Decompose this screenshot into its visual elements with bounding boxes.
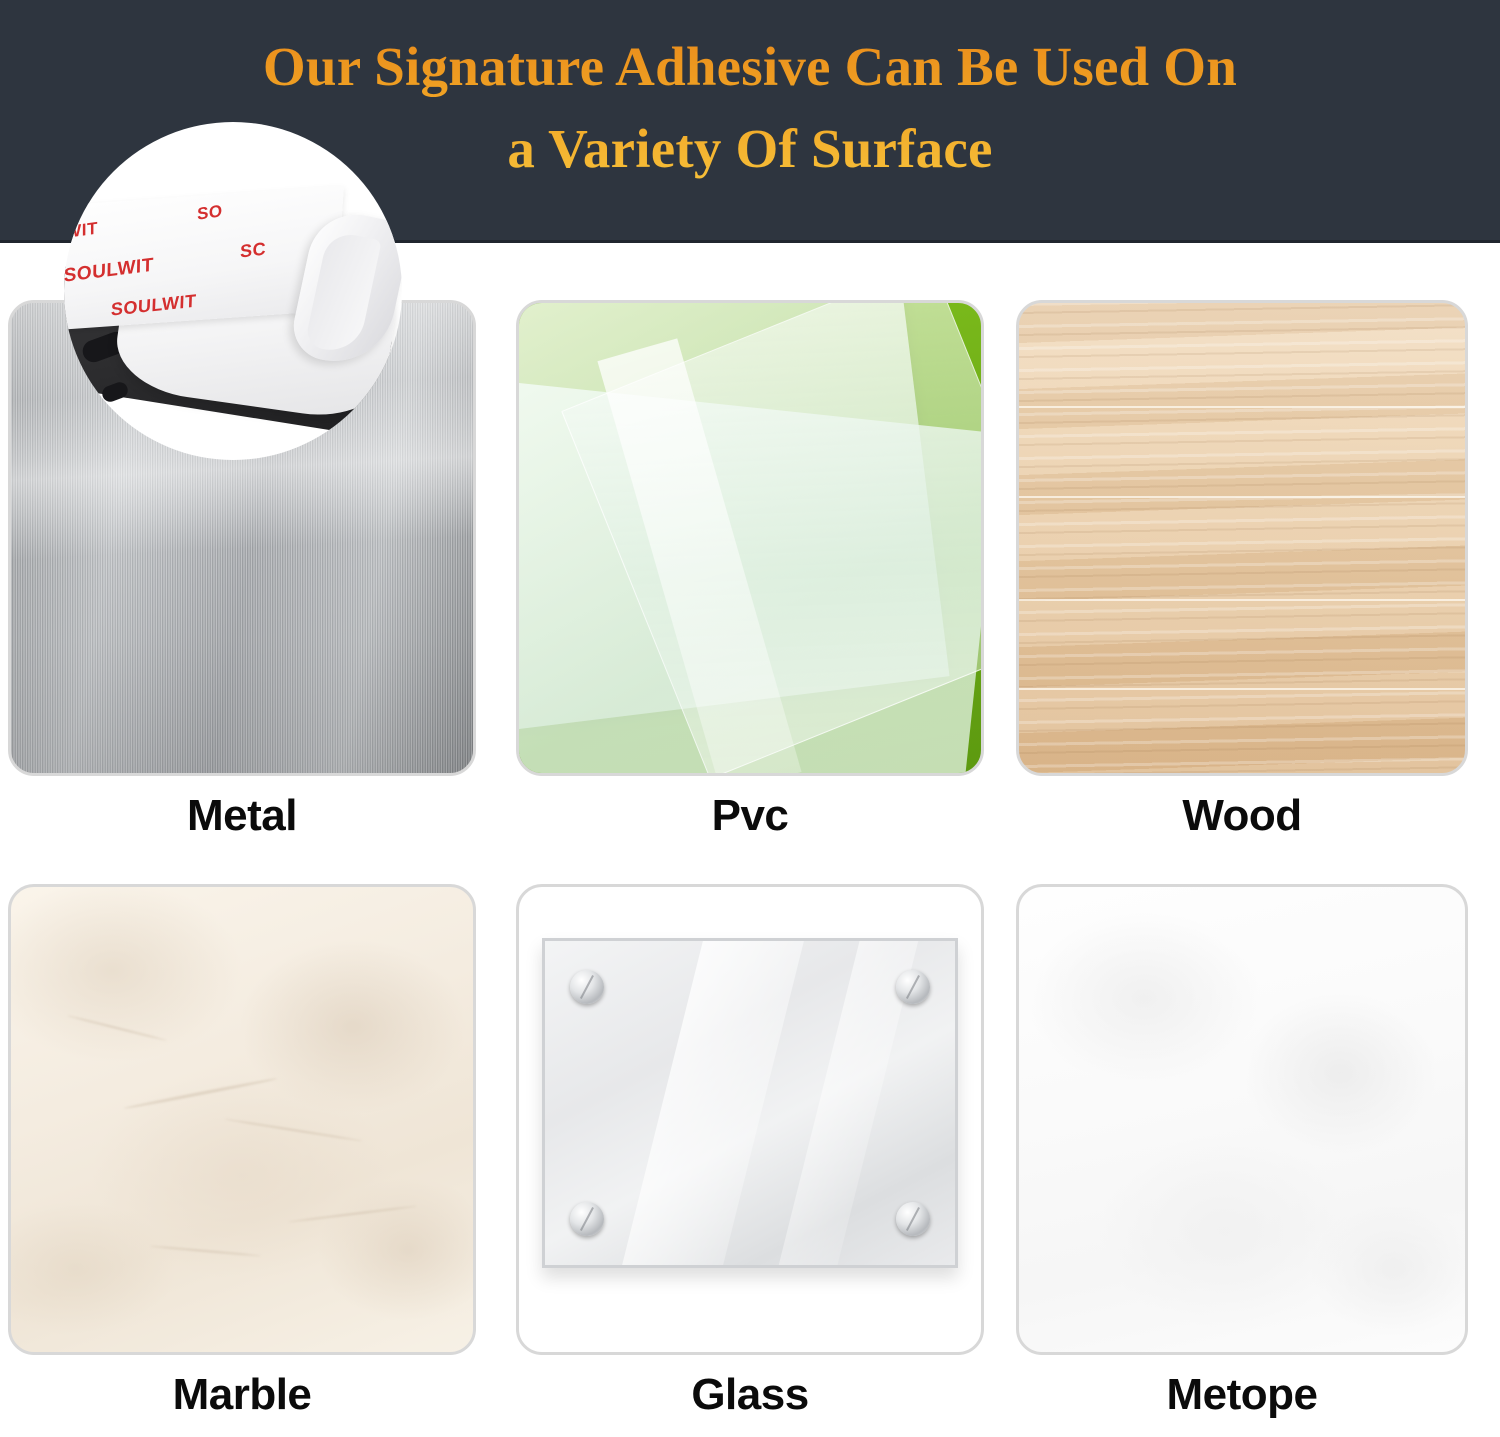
surface-label-metope: Metope bbox=[1016, 1370, 1468, 1420]
surface-swatch-glass bbox=[516, 884, 984, 1355]
surface-label-metal: Metal bbox=[8, 791, 476, 841]
standoff-screw-icon bbox=[570, 970, 604, 1004]
standoff-screw-icon bbox=[570, 1202, 604, 1236]
wood-plank-seam bbox=[1019, 496, 1465, 498]
surface-cell-marble[interactable] bbox=[8, 884, 476, 1355]
marble-vein bbox=[68, 1014, 167, 1041]
surface-swatch-marble bbox=[8, 884, 476, 1355]
wood-plank-seam bbox=[1019, 688, 1465, 690]
surface-cell-metope[interactable] bbox=[1016, 884, 1468, 1355]
wood-plank-seam bbox=[1019, 406, 1465, 408]
surface-cell-wood[interactable] bbox=[1016, 300, 1468, 776]
page-title-line-1: Our Signature Adhesive Can Be Used On bbox=[0, 26, 1500, 108]
liner-brand-text: SC bbox=[240, 238, 266, 262]
surface-swatch-pvc bbox=[516, 300, 984, 776]
marble-vein bbox=[224, 1118, 361, 1142]
wood-plank-seam bbox=[1019, 599, 1465, 601]
marble-vein bbox=[150, 1245, 261, 1257]
surface-cell-pvc[interactable] bbox=[516, 300, 984, 776]
liner-brand-text: OULWIT bbox=[64, 218, 98, 248]
glass-panel bbox=[542, 938, 958, 1268]
liner-brand-text: SO bbox=[197, 201, 223, 225]
surface-label-wood: Wood bbox=[1016, 791, 1468, 841]
liner-brand-text: SOULWIT bbox=[64, 255, 154, 288]
glass-glare bbox=[602, 938, 815, 1268]
standoff-screw-icon bbox=[896, 1202, 930, 1236]
adhesive-pad-closeup-circle: OULWIT SO SOULWIT SC SOULWIT IT bbox=[64, 122, 402, 460]
surface-label-glass: Glass bbox=[516, 1370, 984, 1420]
marble-vein bbox=[289, 1205, 418, 1223]
standoff-screw-icon bbox=[896, 970, 930, 1004]
surface-label-pvc: Pvc bbox=[516, 791, 984, 841]
surface-swatch-wood bbox=[1016, 300, 1468, 776]
surface-cell-glass[interactable] bbox=[516, 884, 984, 1355]
surface-swatch-metope bbox=[1016, 884, 1468, 1355]
surface-label-marble: Marble bbox=[8, 1370, 476, 1420]
liner-brand-text: SOULWIT bbox=[111, 291, 197, 321]
marble-vein bbox=[123, 1077, 278, 1110]
